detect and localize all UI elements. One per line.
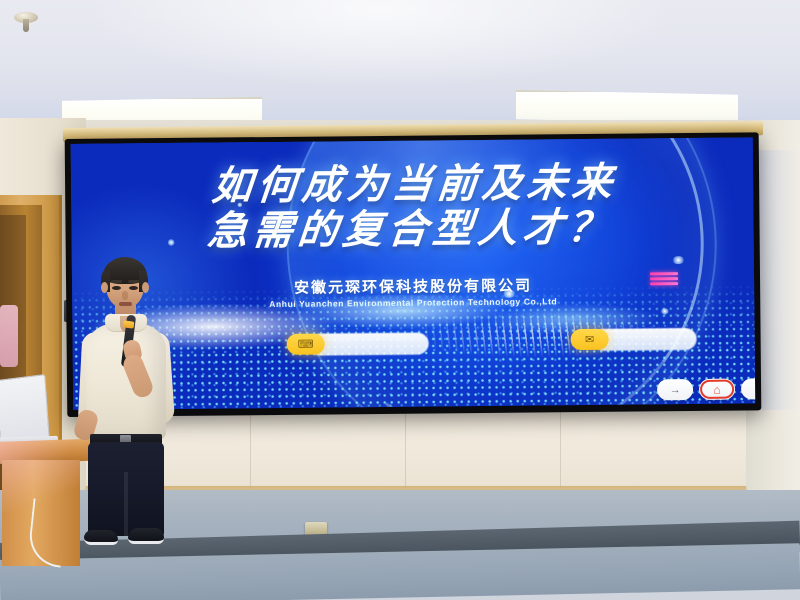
light-spark bbox=[672, 256, 685, 264]
wall-seam bbox=[560, 410, 561, 488]
presenter-ear-left bbox=[101, 282, 108, 293]
presenter-ear-right bbox=[142, 282, 149, 293]
light-spark bbox=[168, 239, 175, 246]
wall-seam bbox=[405, 410, 406, 488]
home-highlight-ring bbox=[700, 380, 734, 399]
mail-icon: ✉ bbox=[585, 333, 594, 346]
presenter-shoe-left bbox=[84, 530, 118, 545]
presenter-mouth bbox=[119, 302, 132, 306]
wall-lower-panel bbox=[86, 408, 746, 492]
presenter bbox=[72, 258, 178, 558]
presenter-eye-left bbox=[112, 286, 121, 290]
keyboard-icon: ⌨ bbox=[298, 338, 314, 351]
presenter-eye-right bbox=[129, 286, 138, 290]
arrow-right-icon: → bbox=[670, 384, 681, 396]
wall-seam bbox=[250, 410, 251, 488]
fire-sprinkler-icon bbox=[14, 6, 40, 32]
line-1 bbox=[650, 272, 678, 275]
line-2 bbox=[650, 277, 678, 280]
slide-title-line-1: 如何成为当前及未来 bbox=[71, 159, 755, 210]
light-spark bbox=[660, 308, 669, 314]
laptop-screen[interactable] bbox=[0, 374, 50, 444]
light-spark bbox=[591, 191, 596, 196]
microphone-band bbox=[123, 320, 135, 328]
conference-room-scene: 如何成为当前及未来 急需的复合型人才？ 安徽元琛环保科技股份有限公司 Anhui… bbox=[0, 0, 800, 600]
presenter-brow-left bbox=[111, 280, 122, 283]
home-button[interactable]: ⌂ bbox=[699, 379, 735, 400]
ceiling-panel-light-right bbox=[516, 90, 738, 124]
presenter-brow-right bbox=[128, 280, 139, 283]
slide-label-card-left bbox=[309, 333, 429, 356]
pink-object bbox=[0, 305, 18, 367]
mail-pill-icon[interactable]: ✉ bbox=[571, 329, 609, 350]
light-spark bbox=[237, 202, 242, 207]
keyboard-pill-icon[interactable]: ⌨ bbox=[287, 334, 325, 355]
presenter-shoe-right bbox=[128, 528, 164, 544]
presenter-nose bbox=[122, 291, 128, 300]
next-button[interactable]: → bbox=[657, 379, 693, 400]
presenter-leg-separation bbox=[124, 472, 128, 536]
slide-title-line-2: 急需的复合型人才？ bbox=[71, 204, 754, 255]
back-button[interactable]: ‹ bbox=[741, 378, 755, 399]
sprinkler-stem bbox=[23, 19, 29, 32]
